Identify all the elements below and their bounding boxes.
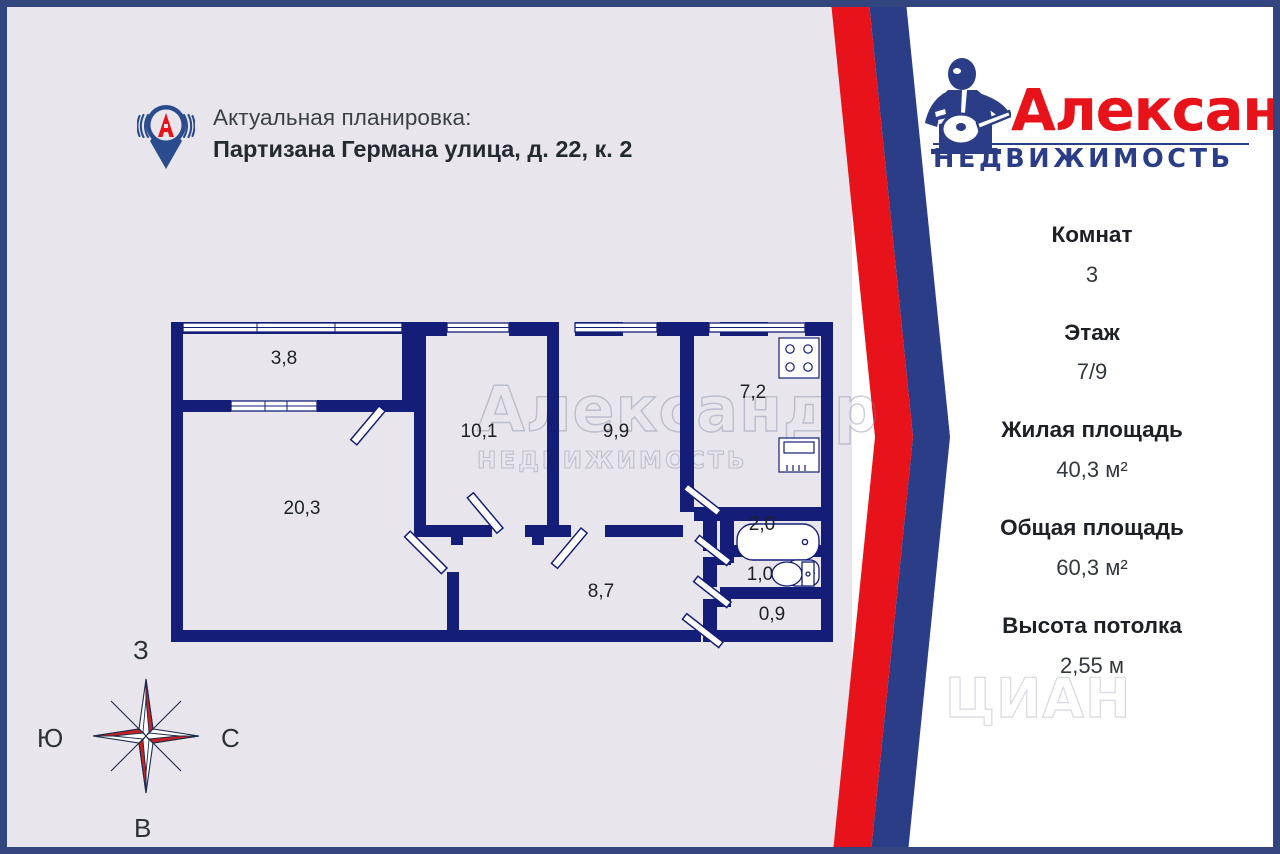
- info-value: 7/9: [892, 360, 1280, 383]
- compass: З Ю С В: [29, 635, 249, 847]
- logo-tagline-text: НЕДВИЖИМОСТЬ: [933, 147, 1234, 173]
- info-item-rooms: Комнат 3: [892, 223, 1280, 286]
- compass-label-south: В: [134, 813, 151, 844]
- info-label: Общая площадь: [892, 516, 1280, 540]
- floor-plan: 3,8 20,3 10,1 9,9 7,2 2,0 1,0 0,9 8,7: [157, 302, 847, 667]
- room-label-bathroom: 2,0: [749, 514, 775, 535]
- compass-label-west: Ю: [37, 723, 63, 754]
- fixture-kitchen-sink: [779, 438, 819, 472]
- info-item-ceiling-height: Высота потолка 2,55 м: [892, 614, 1280, 677]
- header: Актуальная планировка: Партизана Германа…: [137, 91, 632, 173]
- info-value: 3: [892, 263, 1280, 286]
- page-subtitle: Актуальная планировка:: [213, 103, 632, 133]
- info-value: 2,55 м: [892, 654, 1280, 677]
- floorplan-page: Актуальная планировка: Партизана Германа…: [0, 0, 1280, 854]
- info-label: Жилая площадь: [892, 418, 1280, 442]
- compass-label-east: С: [221, 723, 240, 754]
- info-label: Высота потолка: [892, 614, 1280, 638]
- page-title: Партизана Германа улица, д. 22, к. 2: [213, 134, 632, 165]
- room-label-living-room: 20,3: [284, 498, 321, 519]
- info-item-total-area: Общая площадь 60,3 м²: [892, 516, 1280, 579]
- fixture-toilet-bowl: [772, 562, 814, 586]
- info-item-floor: Этаж 7/9: [892, 321, 1280, 384]
- info-value: 40,3 м²: [892, 458, 1280, 481]
- fixture-stove-4-burner: [779, 338, 819, 378]
- compass-rose-icon: [91, 677, 201, 795]
- logo-brand-text: Александр: [1011, 81, 1280, 139]
- plan-walls: [171, 322, 833, 642]
- room-label-storage: 0,9: [759, 604, 785, 625]
- room-label-kitchen: 7,2: [740, 382, 766, 403]
- info-label: Комнат: [892, 223, 1280, 247]
- floor-plan-svg: 3,8 20,3 10,1 9,9 7,2 2,0 1,0 0,9 8,7: [157, 302, 847, 667]
- room-label-bedroom-1: 10,1: [461, 421, 498, 442]
- room-label-corridor: 8,7: [588, 581, 614, 602]
- info-label: Этаж: [892, 321, 1280, 345]
- room-label-toilet: 1,0: [747, 564, 773, 585]
- title-lines: Актуальная планировка: Партизана Германа…: [213, 99, 632, 165]
- room-label-bedroom-2: 9,9: [603, 421, 629, 442]
- compass-label-north: З: [133, 635, 149, 666]
- property-info-list: Комнат 3 Этаж 7/9 Жилая площадь 40,3 м² …: [892, 223, 1280, 712]
- map-pin-a-icon: [137, 91, 195, 173]
- info-value: 60,3 м²: [892, 556, 1280, 579]
- company-logo: Александр НЕДВИЖИМОСТЬ: [915, 55, 1255, 190]
- info-item-living-area: Жилая площадь 40,3 м²: [892, 418, 1280, 481]
- room-label-balcony: 3,8: [271, 348, 297, 369]
